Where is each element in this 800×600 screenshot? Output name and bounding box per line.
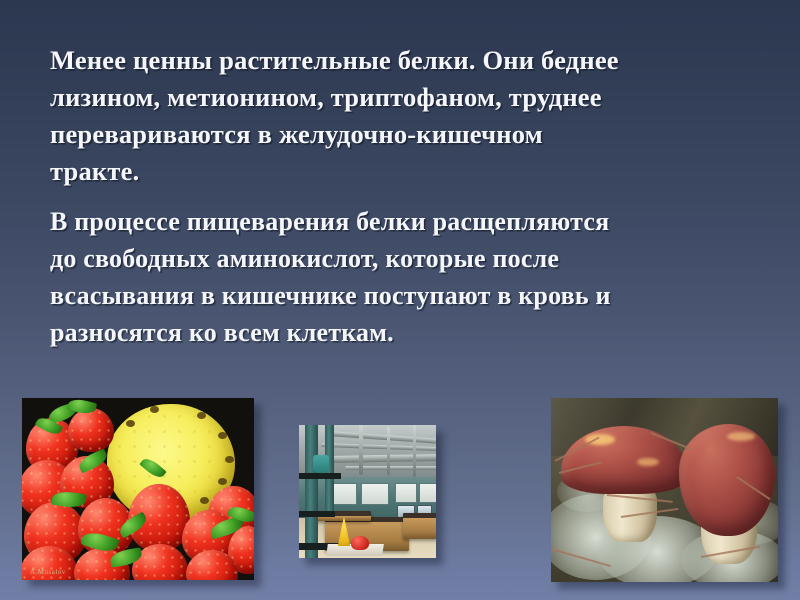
- fruit-photo-canvas: A.Musalov: [22, 398, 254, 580]
- laboratory-interior-photo: [299, 425, 436, 558]
- lab-window: [419, 483, 436, 503]
- mushroom-cap-right: [679, 424, 775, 536]
- paragraph-2: В процессе пищеварения белки расщепляютс…: [50, 203, 750, 351]
- cap-highlight: [637, 458, 659, 466]
- mushroom-photo-canvas: [551, 398, 778, 582]
- ceiling-support: [387, 427, 390, 475]
- presentation-slide: Менее ценны растительные белки. Они бедн…: [0, 0, 800, 600]
- paragraph-2-line-3: всасывания в кишечнике поступают в кровь…: [50, 277, 750, 314]
- paragraph-1-line-3: перевариваются в желудочно-кишечном: [50, 116, 750, 153]
- pineapple-eye: [218, 432, 227, 439]
- paragraph-2-line-4: разносятся ко всем клеткам.: [50, 314, 750, 351]
- pineapple-eye: [197, 412, 206, 419]
- ceiling-support: [359, 425, 363, 475]
- paragraph-2-line-1: В процессе пищеварения белки расщепляютс…: [50, 203, 750, 240]
- pineapple-eye: [126, 420, 135, 427]
- paragraph-1-line-1: Менее ценны растительные белки. Они бедн…: [50, 42, 750, 79]
- lab-shelf: [299, 511, 335, 517]
- ceiling-support: [413, 425, 416, 477]
- lab-pillar: [305, 425, 318, 558]
- lab-shelf: [299, 473, 341, 479]
- slide-text-block: Менее ценны растительные белки. Они бедн…: [50, 42, 750, 351]
- paragraph-2-line-2: до свободных аминокислот, которые после: [50, 240, 750, 277]
- paragraph-1: Менее ценны растительные белки. Они бедн…: [50, 42, 750, 190]
- lab-window: [361, 483, 389, 505]
- lab-container: [313, 455, 329, 473]
- boletus-mushrooms-photo: [551, 398, 778, 582]
- strawberries-and-pineapple-photo: A.Musalov: [22, 398, 254, 580]
- pineapple-eye: [200, 497, 209, 504]
- strawberry: [68, 408, 114, 452]
- lab-window: [395, 483, 417, 503]
- pineapple-eye: [150, 406, 159, 413]
- paragraph-1-line-4: тракте.: [50, 153, 750, 190]
- pineapple-eye: [225, 456, 234, 463]
- lab-bench: [403, 513, 436, 539]
- photo-signature: A.Musalov: [30, 568, 66, 576]
- paragraph-1-line-2: лизином, метионином, триптофаном, трудне…: [50, 79, 750, 116]
- lab-photo-canvas: [299, 425, 436, 558]
- cap-highlight: [727, 432, 755, 441]
- lab-red-object: [351, 536, 369, 550]
- pineapple-eye: [218, 478, 227, 485]
